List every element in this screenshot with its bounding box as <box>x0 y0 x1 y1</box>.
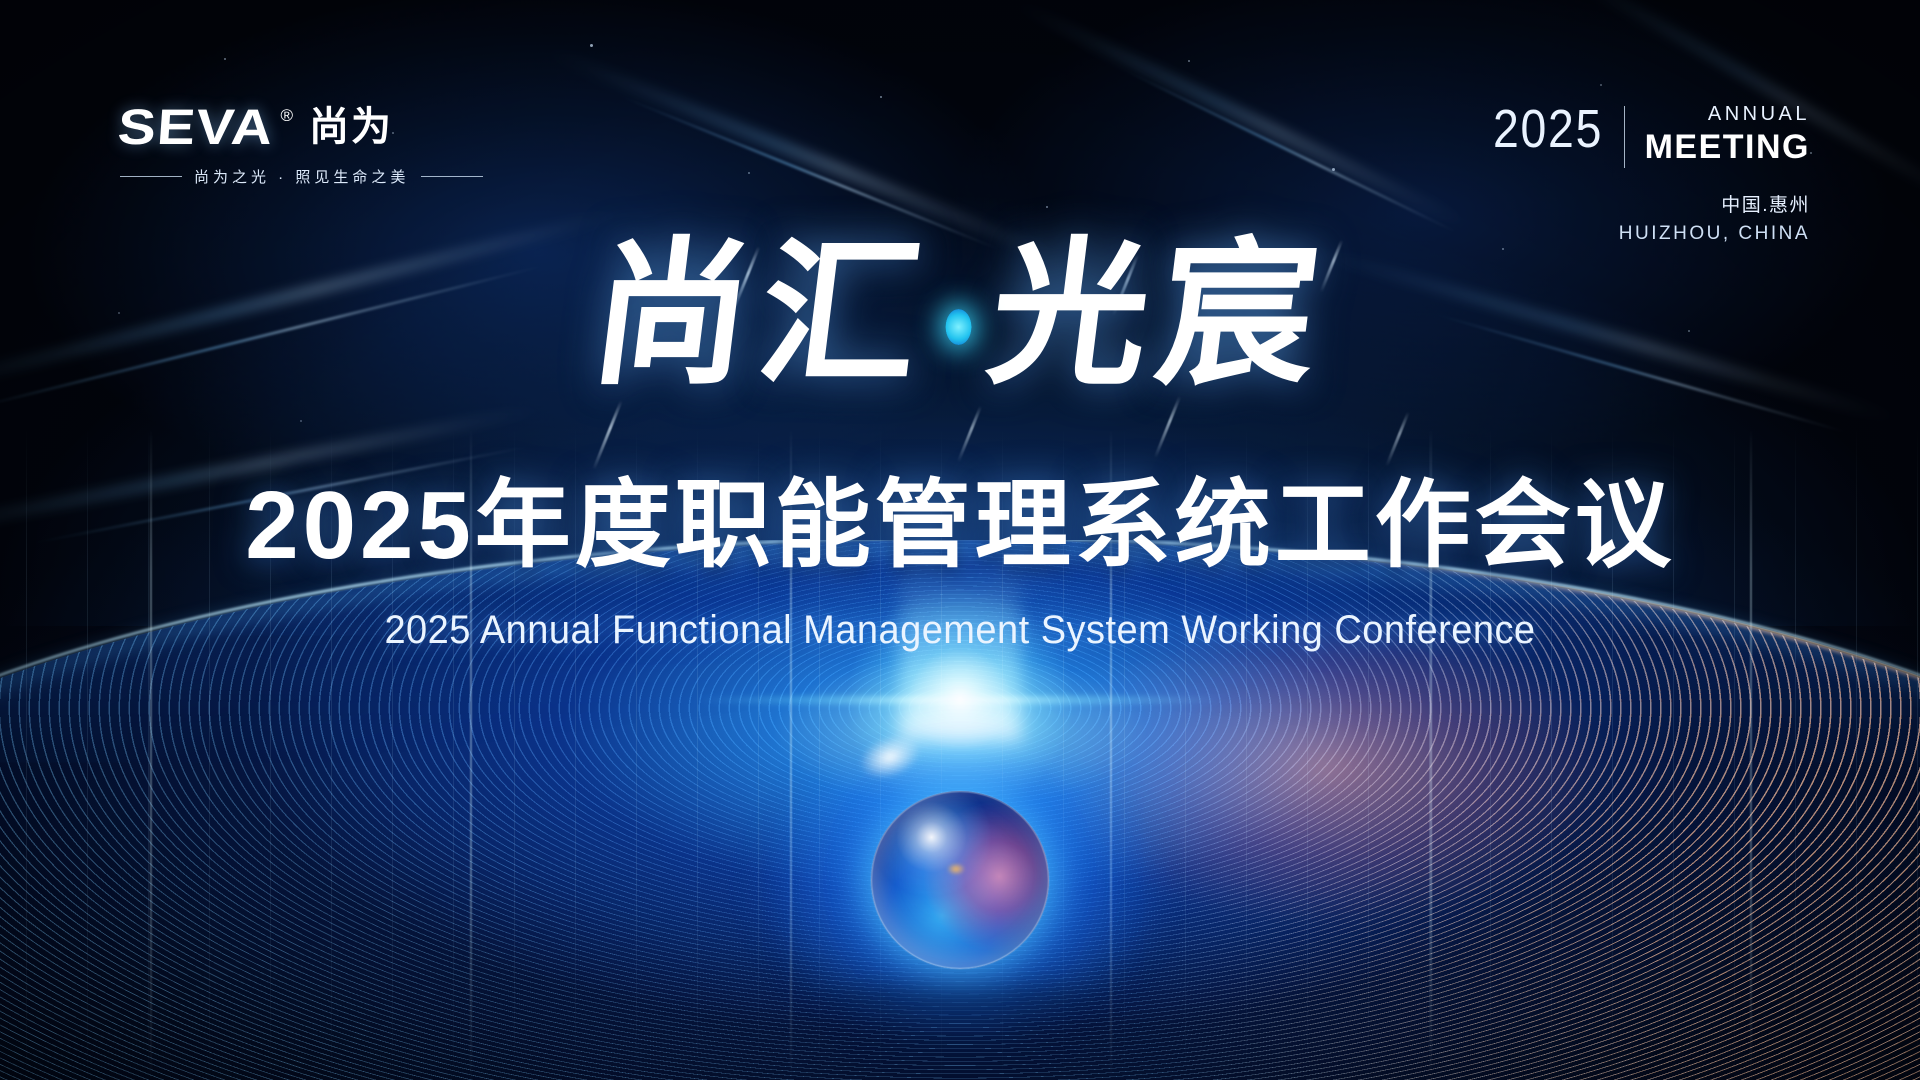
brand-logo[interactable]: SEVA ® 尚为 尚为之光 · 照见生命之美 <box>118 102 483 187</box>
meeting-divider <box>1624 106 1625 168</box>
tagline-rule-left <box>120 176 182 177</box>
brand-wordmark: SEVA <box>116 102 275 152</box>
meeting-meeting-label: MEETING <box>1645 128 1810 166</box>
headline-right: 光宸 <box>980 227 1338 403</box>
main-headline: 尚汇光宸 <box>0 236 1920 394</box>
registered-trademark-icon: ® <box>280 106 293 126</box>
meeting-words: ANNUAL MEETING <box>1645 104 1810 166</box>
meeting-badge: 2025 ANNUAL MEETING 中国.惠州 HUIZHOU, CHINA <box>1475 104 1810 245</box>
conference-key-visual: SEVA ® 尚为 尚为之光 · 照见生命之美 2025 ANNUAL MEET… <box>0 0 1920 1080</box>
brand-tagline-row: 尚为之光 · 照见生命之美 <box>120 166 483 187</box>
headline-separator-dot <box>945 309 971 345</box>
meeting-location-cn: 中国.惠州 <box>1475 190 1810 217</box>
subtitle-chinese: 2025年度职能管理系统工作会议 <box>0 478 1920 574</box>
meeting-annual-label: ANNUAL <box>1708 103 1810 125</box>
meeting-badge-top: 2025 ANNUAL MEETING <box>1475 104 1810 168</box>
meeting-year: 2025 <box>1493 104 1603 155</box>
headline-left: 尚汇 <box>582 227 940 403</box>
subtitle-english: 2025 Annual Functional Management System… <box>48 608 1872 653</box>
center-sphere <box>750 670 1170 1080</box>
sphere-rim-light <box>871 791 1049 969</box>
brand-logo-row: SEVA ® 尚为 <box>118 102 483 152</box>
brand-chinese-name: 尚为 <box>309 107 393 147</box>
tagline-rule-right <box>421 176 483 177</box>
brand-tagline: 尚为之光 · 照见生命之美 <box>194 166 409 187</box>
